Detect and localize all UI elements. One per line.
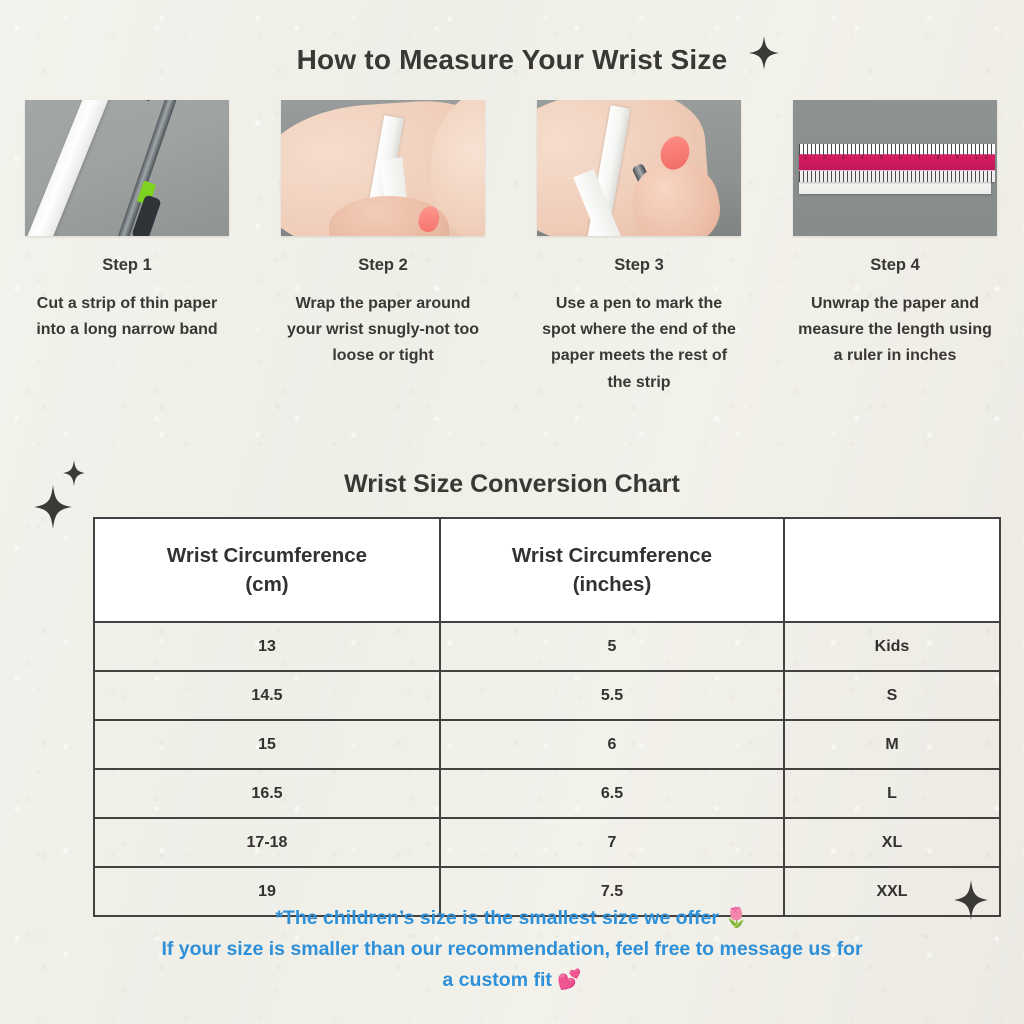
step-4-photo: 1 2 3 4 5 6 7 8 9 10 11 12 13 14 15 — [793, 100, 997, 236]
footer-line-1: *The children’s size is the smallest siz… — [52, 903, 972, 934]
header-cell-inches: Wrist Circumference (inches) — [440, 518, 784, 622]
header-cell-cm: Wrist Circumference (cm) — [94, 518, 440, 622]
table-row: 16.5 6.5 L — [94, 769, 1000, 818]
step-3-description: Use a pen to mark the spot where the end… — [537, 291, 741, 396]
page-title: How to Measure Your Wrist Size — [0, 44, 1024, 76]
step-1-photo — [25, 100, 229, 236]
step-card-2: Step 2 Wrap the paper around your wrist … — [281, 100, 485, 370]
table-header-row: Wrist Circumference (cm) Wrist Circumfer… — [94, 518, 1000, 622]
table-row: 17-18 7 XL — [94, 818, 1000, 867]
step-2-description: Wrap the paper around your wrist snugly-… — [281, 291, 485, 370]
steps-row: Step 1 Cut a strip of thin paper into a … — [0, 100, 1024, 440]
cell-inches: 5 — [440, 622, 784, 671]
header-cm-line1: Wrist Circumference — [103, 541, 431, 570]
cell-inches: 6.5 — [440, 769, 784, 818]
sparkle-left-small-icon — [62, 460, 86, 486]
header-cell-size — [784, 518, 1000, 622]
table-body: 13 5 Kids 14.5 5.5 S 15 6 M 16.5 6.5 L 1… — [94, 622, 1000, 916]
cell-size: Kids — [784, 622, 1000, 671]
wrist-size-conversion-table: Wrist Circumference (cm) Wrist Circumfer… — [93, 517, 1001, 917]
cell-cm: 13 — [94, 622, 440, 671]
footer-line-2: If your size is smaller than our recomme… — [52, 934, 972, 965]
cell-size: M — [784, 720, 1000, 769]
cell-cm: 14.5 — [94, 671, 440, 720]
cell-inches: 5.5 — [440, 671, 784, 720]
step-3-label: Step 3 — [537, 256, 741, 275]
header-cm-line2: (cm) — [103, 570, 431, 599]
footer-line-3: a custom fit 💕 — [52, 965, 972, 996]
step-2-photo — [281, 100, 485, 236]
step-1-label: Step 1 — [25, 256, 229, 275]
step-2-label: Step 2 — [281, 256, 485, 275]
cell-cm: 17-18 — [94, 818, 440, 867]
cell-cm: 16.5 — [94, 769, 440, 818]
table-row: 14.5 5.5 S — [94, 671, 1000, 720]
header-inches-line1: Wrist Circumference — [449, 541, 775, 570]
chart-title: Wrist Size Conversion Chart — [0, 470, 1024, 499]
step-card-1: Step 1 Cut a strip of thin paper into a … — [25, 100, 229, 343]
header-inches-line2: (inches) — [449, 570, 775, 599]
cell-inches: 6 — [440, 720, 784, 769]
cell-inches: 7 — [440, 818, 784, 867]
cell-size: L — [784, 769, 1000, 818]
step-4-description: Unwrap the paper and measure the length … — [793, 291, 997, 370]
step-1-description: Cut a strip of thin paper into a long na… — [25, 291, 229, 343]
table-row: 13 5 Kids — [94, 622, 1000, 671]
cell-size: XL — [784, 818, 1000, 867]
step-3-photo — [537, 100, 741, 236]
step-4-label: Step 4 — [793, 256, 997, 275]
step-card-4: 1 2 3 4 5 6 7 8 9 10 11 12 13 14 15 Step… — [793, 100, 997, 370]
cell-cm: 15 — [94, 720, 440, 769]
table-row: 15 6 M — [94, 720, 1000, 769]
sparkle-left-large-icon — [33, 485, 73, 529]
step-card-3: Step 3 Use a pen to mark the spot where … — [537, 100, 741, 396]
footer-note: *The children’s size is the smallest siz… — [52, 903, 972, 995]
sparkle-bottom-right-icon — [953, 880, 989, 920]
cell-size: S — [784, 671, 1000, 720]
sparkle-top-right-icon — [748, 36, 780, 70]
